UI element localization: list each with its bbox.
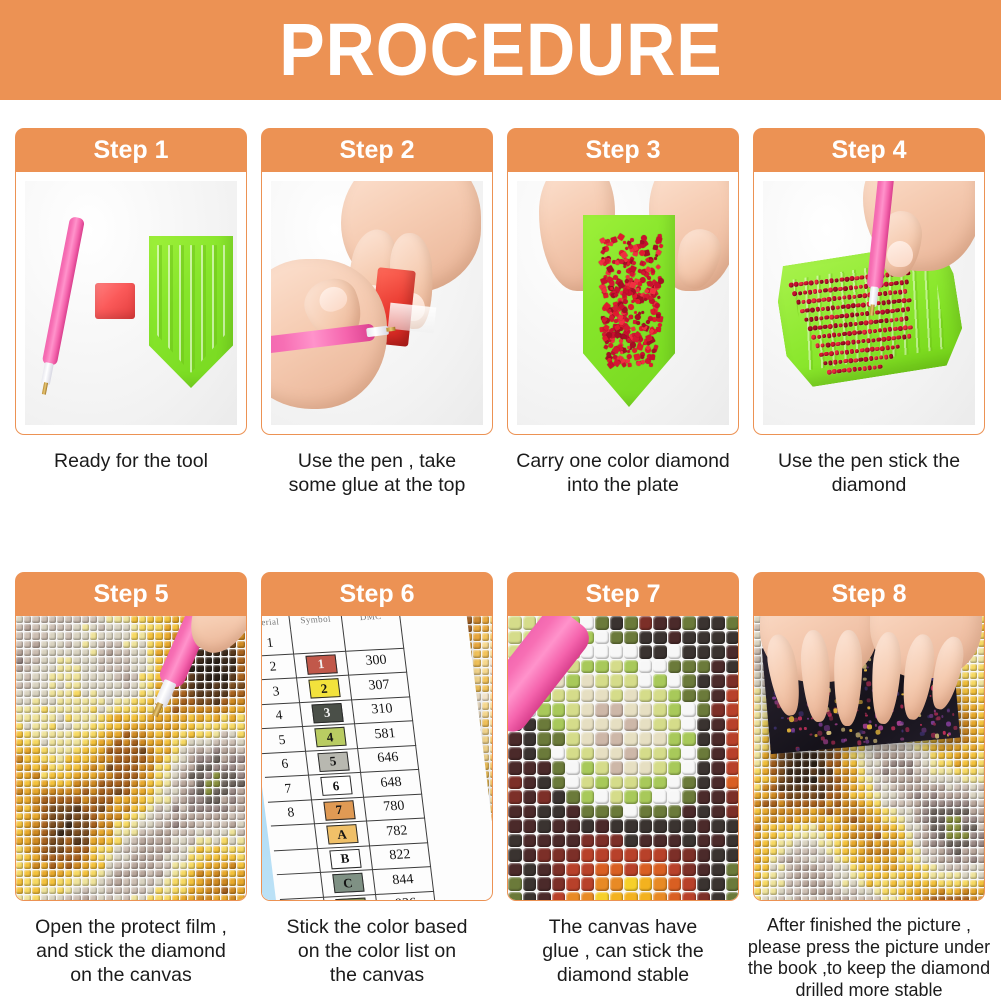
step-header-8: Step 8 xyxy=(753,572,985,616)
diamond-bead xyxy=(802,760,809,767)
diamond-bead xyxy=(237,657,244,664)
diamond-bead xyxy=(24,796,31,803)
diamond-bead xyxy=(490,745,492,753)
diamond-bead xyxy=(114,772,121,779)
diamond-bead xyxy=(98,616,105,623)
diamond-bead xyxy=(106,780,113,787)
diamond-bead xyxy=(221,682,228,689)
diamond-bead xyxy=(508,819,522,833)
diamond-bead xyxy=(123,854,130,861)
diamond-bead xyxy=(938,864,945,871)
diamond-bead xyxy=(946,832,953,839)
diamond-bead xyxy=(930,864,937,871)
jewel-bead xyxy=(942,731,946,735)
diamond-bead xyxy=(164,731,171,738)
step-card-2: Step 2 xyxy=(261,128,493,497)
diamond-bead xyxy=(898,824,905,831)
diamond-bead xyxy=(581,689,595,703)
diamond-bead xyxy=(106,731,113,738)
diamond-bead xyxy=(946,800,953,807)
diamond-bead xyxy=(482,728,490,736)
diamond-bead xyxy=(794,776,801,783)
diamond-bead xyxy=(850,824,857,831)
diamond-bead xyxy=(82,788,89,795)
diamond-bead xyxy=(581,660,595,674)
diamond-bead xyxy=(106,846,113,853)
diamond-bead xyxy=(24,854,31,861)
step-header-label: Step 2 xyxy=(339,138,414,163)
diamond-bead xyxy=(49,854,56,861)
diamond-bead xyxy=(16,813,23,820)
diamond-bead xyxy=(697,805,711,819)
jewel-bead xyxy=(864,669,867,672)
diamond-bead xyxy=(523,892,537,901)
diamond-bead xyxy=(906,816,913,823)
diamond-bead xyxy=(711,790,725,804)
diamond-bead xyxy=(180,878,187,885)
diamond-bead xyxy=(180,870,187,877)
diamond-bead xyxy=(114,649,121,656)
diamond-bead xyxy=(16,805,23,812)
diamond-bead xyxy=(778,856,785,863)
red-diamond xyxy=(631,347,638,354)
diamond-bead xyxy=(106,624,113,631)
diamond-bead xyxy=(970,784,977,791)
diamond-bead xyxy=(65,665,72,672)
diamond-bead xyxy=(73,878,80,885)
jewel-bead xyxy=(952,713,955,716)
diamond-bead xyxy=(552,819,566,833)
diamond-bead xyxy=(566,689,580,703)
diamond-bead xyxy=(188,690,195,697)
diamond-bead xyxy=(213,657,220,664)
diamond-bead xyxy=(523,805,537,819)
diamond-bead xyxy=(482,616,490,624)
diamond-bead xyxy=(131,755,138,762)
diamond-bead xyxy=(970,768,977,775)
diamond-bead xyxy=(106,641,113,648)
diamond-bead xyxy=(842,808,849,815)
diamond-bead xyxy=(65,698,72,705)
diamond-bead xyxy=(155,657,162,664)
diamond-bead xyxy=(229,706,236,713)
diamond-bead xyxy=(82,780,89,787)
diamond-bead xyxy=(898,784,905,791)
diamond-bead xyxy=(139,723,146,730)
diamond-bead xyxy=(711,848,725,862)
diamond-bead xyxy=(978,672,984,679)
diamond-bead xyxy=(978,824,984,831)
diamond-bead xyxy=(978,704,984,711)
diamond-bead xyxy=(826,816,833,823)
diamond-bead xyxy=(196,682,203,689)
diamond-bead xyxy=(874,840,881,847)
diamond-bead xyxy=(32,723,39,730)
diamond-bead xyxy=(131,723,138,730)
diamond-bead xyxy=(794,824,801,831)
diamond-bead xyxy=(697,616,711,630)
diamond-bead xyxy=(98,780,105,787)
red-diamond xyxy=(657,295,661,299)
diamond-bead xyxy=(32,764,39,771)
diamond-bead xyxy=(898,776,905,783)
diamond-bead xyxy=(73,641,80,648)
diamond-bead xyxy=(131,821,138,828)
diamond-bead xyxy=(978,800,984,807)
diamond-bead xyxy=(566,747,580,761)
diamond-bead xyxy=(139,624,146,631)
diamond-bead xyxy=(65,870,72,877)
diamond-bead xyxy=(818,832,825,839)
diamond-bead xyxy=(508,834,522,848)
diamond-bead xyxy=(155,813,162,820)
step-card-8: Step 8 xyxy=(753,572,985,1001)
diamond-bead xyxy=(978,840,984,847)
diamond-bead xyxy=(778,800,785,807)
diamond-bead xyxy=(221,788,228,795)
diamond-bead xyxy=(221,878,228,885)
diamond-bead xyxy=(668,892,682,901)
diamond-bead xyxy=(180,788,187,795)
diamond-bead xyxy=(164,796,171,803)
diamond-bead xyxy=(754,880,761,887)
diamond-bead xyxy=(229,673,236,680)
diamond-bead xyxy=(794,840,801,847)
diamond-bead xyxy=(842,776,849,783)
diamond-bead xyxy=(624,761,638,775)
diamond-bead xyxy=(123,739,130,746)
chart-symbol-cell: 6 xyxy=(309,773,364,800)
diamond-bead xyxy=(778,816,785,823)
diamond-bead xyxy=(890,760,897,767)
diamond-bead xyxy=(213,854,220,861)
diamond-bead xyxy=(16,878,23,885)
jewel-bead xyxy=(947,733,950,736)
diamond-bead xyxy=(196,731,203,738)
diamond-bead xyxy=(82,829,89,836)
diamond-bead xyxy=(98,878,105,885)
diamond-bead xyxy=(90,764,97,771)
diamond-bead xyxy=(229,796,236,803)
diamond-bead xyxy=(213,682,220,689)
diamond-bead xyxy=(90,714,97,721)
red-diamond xyxy=(860,275,865,280)
diamond-bead xyxy=(490,642,492,650)
diamond-bead xyxy=(882,872,889,879)
diamond-bead xyxy=(566,703,580,717)
diamond-bead xyxy=(754,800,761,807)
diamond-bead xyxy=(196,665,203,672)
diamond-bead xyxy=(866,808,873,815)
diamond-bead xyxy=(639,776,653,790)
diamond-bead xyxy=(726,805,739,819)
red-diamond xyxy=(828,324,833,329)
diamond-bead xyxy=(595,747,609,761)
red-diamond xyxy=(899,280,904,285)
diamond-bead xyxy=(106,788,113,795)
diamond-bead xyxy=(922,832,929,839)
diamond-bead xyxy=(754,696,761,703)
diamond-bead xyxy=(938,808,945,815)
chart-symbol-cell: 7 xyxy=(312,797,367,824)
diamond-bead xyxy=(139,829,146,836)
chart-symbol-swatch: 1 xyxy=(305,654,337,674)
diamond-bead xyxy=(16,632,23,639)
diamond-bead xyxy=(786,768,793,775)
diamond-bead xyxy=(930,848,937,855)
diamond-bead xyxy=(139,616,146,623)
diamond-bead xyxy=(581,863,595,877)
diamond-bead xyxy=(818,872,825,879)
diamond-bead xyxy=(98,739,105,746)
red-diamond xyxy=(867,329,872,334)
diamond-bead xyxy=(938,752,945,759)
diamond-bead xyxy=(490,728,492,736)
diamond-bead xyxy=(850,840,857,847)
diamond-bead xyxy=(826,800,833,807)
diamond-bead xyxy=(123,649,130,656)
diamond-bead xyxy=(131,887,138,894)
diamond-bead xyxy=(866,888,873,895)
diamond-bead xyxy=(98,772,105,779)
red-diamond xyxy=(854,312,859,317)
diamond-bead xyxy=(98,870,105,877)
diamond-bead xyxy=(114,764,121,771)
diamond-bead xyxy=(762,872,769,879)
diamond-bead xyxy=(930,856,937,863)
diamond-bead xyxy=(639,848,653,862)
diamond-bead xyxy=(155,805,162,812)
diamond-bead xyxy=(196,780,203,787)
diamond-bead xyxy=(778,840,785,847)
diamond-bead xyxy=(639,631,653,645)
diamond-bead xyxy=(595,892,609,901)
diamond-bead xyxy=(82,887,89,894)
red-diamond xyxy=(894,281,899,286)
diamond-bead xyxy=(874,816,881,823)
diamond-bead xyxy=(205,837,212,844)
diamond-bead xyxy=(172,788,179,795)
diamond-bead xyxy=(834,872,841,879)
diamond-bead xyxy=(16,887,23,894)
diamond-bead xyxy=(890,744,897,751)
diamond-bead xyxy=(237,649,244,656)
diamond-bead xyxy=(41,755,48,762)
diamond-bead xyxy=(73,714,80,721)
diamond-bead xyxy=(906,784,913,791)
step-header-4: Step 4 xyxy=(753,128,985,172)
diamond-bead xyxy=(82,731,89,738)
diamond-bead xyxy=(794,768,801,775)
diamond-bead xyxy=(73,698,80,705)
diamond-bead xyxy=(537,877,551,891)
diamond-bead xyxy=(552,732,566,746)
diamond-bead xyxy=(762,832,769,839)
diamond-bead xyxy=(711,718,725,732)
chart-dmc-cell: 780 xyxy=(364,794,425,821)
diamond-bead xyxy=(537,732,551,746)
diamond-bead xyxy=(172,805,179,812)
diamond-bead xyxy=(205,673,212,680)
diamond-bead xyxy=(954,808,961,815)
diamond-bead xyxy=(697,819,711,833)
diamond-bead xyxy=(73,747,80,754)
diamond-bead xyxy=(49,747,56,754)
step-image-1 xyxy=(15,172,247,435)
diamond-bead xyxy=(898,880,905,887)
diamond-bead xyxy=(49,846,56,853)
diamond-bead xyxy=(978,688,984,695)
diamond-bead xyxy=(754,728,761,735)
diamond-bead xyxy=(762,744,769,751)
diamond-bead xyxy=(882,760,889,767)
diamond-bead xyxy=(978,728,984,735)
diamond-bead xyxy=(82,657,89,664)
diamond-bead xyxy=(866,832,873,839)
diamond-bead xyxy=(842,752,849,759)
red-diamond xyxy=(823,361,828,366)
diamond-bead xyxy=(237,641,244,648)
chart-symbol-cell: 5 xyxy=(306,749,361,776)
diamond-bead xyxy=(131,731,138,738)
diamond-bead xyxy=(90,641,97,648)
diamond-bead xyxy=(711,732,725,746)
diamond-bead xyxy=(205,846,212,853)
step-header-label: Step 5 xyxy=(93,582,168,607)
diamond-bead xyxy=(229,846,236,853)
diamond-bead xyxy=(938,760,945,767)
diamond-bead xyxy=(778,864,785,871)
diamond-bead xyxy=(213,846,220,853)
diamond-bead xyxy=(65,682,72,689)
diamond-bead xyxy=(962,760,969,767)
diamond-bead xyxy=(754,888,761,895)
diamond-bead xyxy=(473,668,481,676)
jewel-bead xyxy=(947,710,950,713)
diamond-bead xyxy=(794,808,801,815)
diamond-bead xyxy=(196,747,203,754)
diamond-bead xyxy=(858,824,865,831)
diamond-bead xyxy=(818,864,825,871)
diamond-bead xyxy=(49,673,56,680)
diamond-bead xyxy=(882,808,889,815)
diamond-bead xyxy=(858,896,865,900)
diamond-bead xyxy=(32,739,39,746)
diamond-bead xyxy=(842,856,849,863)
diamond-bead xyxy=(682,645,696,659)
diamond-bead xyxy=(41,739,48,746)
diamond-bead xyxy=(610,790,624,804)
diamond-bead xyxy=(802,792,809,799)
diamond-bead xyxy=(898,864,905,871)
diamond-bead xyxy=(237,723,244,730)
diamond-bead xyxy=(810,896,817,900)
diamond-bead xyxy=(164,788,171,795)
diamond-bead xyxy=(906,832,913,839)
diamond-bead xyxy=(24,616,31,623)
diamond-bead xyxy=(818,760,825,767)
diamond-bead xyxy=(164,887,171,894)
diamond-bead xyxy=(842,864,849,871)
diamond-bead xyxy=(682,616,696,630)
diamond-bead xyxy=(147,846,154,853)
diamond-bead xyxy=(802,752,809,759)
diamond-bead xyxy=(114,698,121,705)
diamond-bead xyxy=(726,703,739,717)
diamond-bead xyxy=(754,872,761,879)
diamond-bead xyxy=(229,829,236,836)
diamond-bead xyxy=(682,877,696,891)
diamond-bead xyxy=(229,805,236,812)
diamond-bead xyxy=(754,640,761,647)
diamond-bead xyxy=(24,805,31,812)
diamond-bead xyxy=(49,887,56,894)
diamond-bead xyxy=(762,800,769,807)
diamond-bead xyxy=(131,829,138,836)
diamond-bead xyxy=(24,755,31,762)
diamond-bead xyxy=(922,816,929,823)
diamond-bead xyxy=(978,744,984,751)
diamond-bead xyxy=(41,616,48,623)
diamond-bead xyxy=(762,792,769,799)
diamond-bead xyxy=(962,832,969,839)
diamond-bead xyxy=(922,864,929,871)
diamond-bead xyxy=(726,660,739,674)
diamond-bead xyxy=(180,854,187,861)
diamond-bead xyxy=(49,805,56,812)
diamond-bead xyxy=(131,805,138,812)
diamond-bead xyxy=(164,780,171,787)
red-diamond xyxy=(907,297,912,302)
step-caption-4: Use the pen stick the diamond xyxy=(753,449,985,497)
diamond-bead xyxy=(49,616,56,623)
chart-serial-cell xyxy=(271,824,318,851)
diamond-bead xyxy=(922,800,929,807)
diamond-bead xyxy=(205,682,212,689)
diamond-bead xyxy=(653,631,667,645)
diamond-bead xyxy=(32,788,39,795)
diamond-bead xyxy=(82,870,89,877)
diamond-bead xyxy=(114,854,121,861)
diamond-bead xyxy=(794,800,801,807)
diamond-bead xyxy=(221,755,228,762)
diamond-bead xyxy=(810,808,817,815)
diamond-bead xyxy=(229,813,236,820)
diamond-bead xyxy=(682,805,696,819)
diamond-bead xyxy=(155,747,162,754)
diamond-bead xyxy=(954,816,961,823)
diamond-bead xyxy=(123,657,130,664)
diamond-bead xyxy=(24,772,31,779)
diamond-bead xyxy=(978,792,984,799)
diamond-bead xyxy=(595,703,609,717)
diamond-bead xyxy=(922,856,929,863)
red-diamond xyxy=(655,264,661,270)
diamond-bead xyxy=(668,674,682,688)
diamond-bead xyxy=(610,805,624,819)
diamond-bead xyxy=(523,834,537,848)
diamond-bead xyxy=(610,718,624,732)
diamond-bead xyxy=(114,747,121,754)
diamond-bead xyxy=(221,813,228,820)
diamond-bead xyxy=(914,864,921,871)
diamond-bead xyxy=(537,834,551,848)
diamond-bead xyxy=(57,739,64,746)
diamond-bead xyxy=(946,896,953,900)
diamond-bead xyxy=(508,631,522,645)
diamond-bead xyxy=(196,764,203,771)
diamond-bead xyxy=(188,772,195,779)
